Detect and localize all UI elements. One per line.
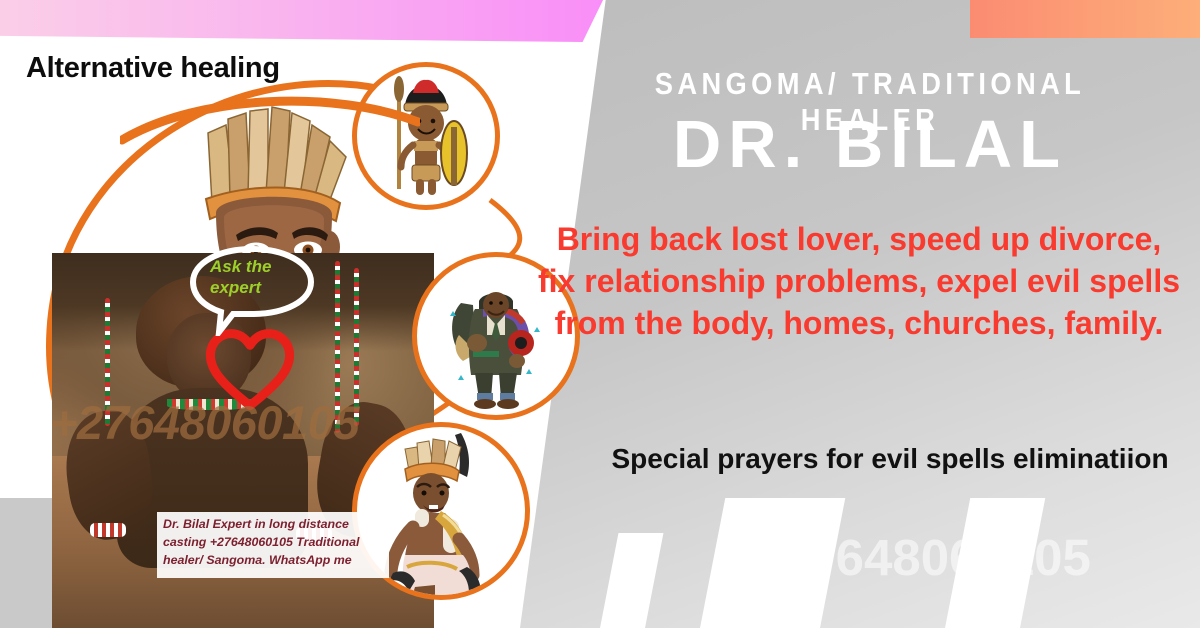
top-salmon-banner — [970, 0, 1200, 38]
services-description: Bring back lost lover, speed up divorce,… — [534, 218, 1184, 345]
contact-phone-number: +27648060105 — [640, 528, 1200, 587]
orange-underline-curve — [120, 88, 420, 148]
poster-canvas: Alternative healing — [0, 0, 1200, 628]
photo-wristband-left — [90, 523, 126, 537]
ask-the-expert-label: Ask the expert — [210, 256, 306, 299]
page-title: Alternative healing — [26, 52, 280, 85]
top-pink-banner — [0, 0, 604, 42]
photo-caption-box: Dr. Bilal Expert in long distance castin… — [157, 512, 389, 578]
special-offer-text: Special prayers for evil spells eliminat… — [600, 440, 1180, 479]
photo-caption-text: Dr. Bilal Expert in long distance castin… — [163, 516, 383, 570]
healer-name-title: DR. BILAL — [560, 108, 1180, 182]
